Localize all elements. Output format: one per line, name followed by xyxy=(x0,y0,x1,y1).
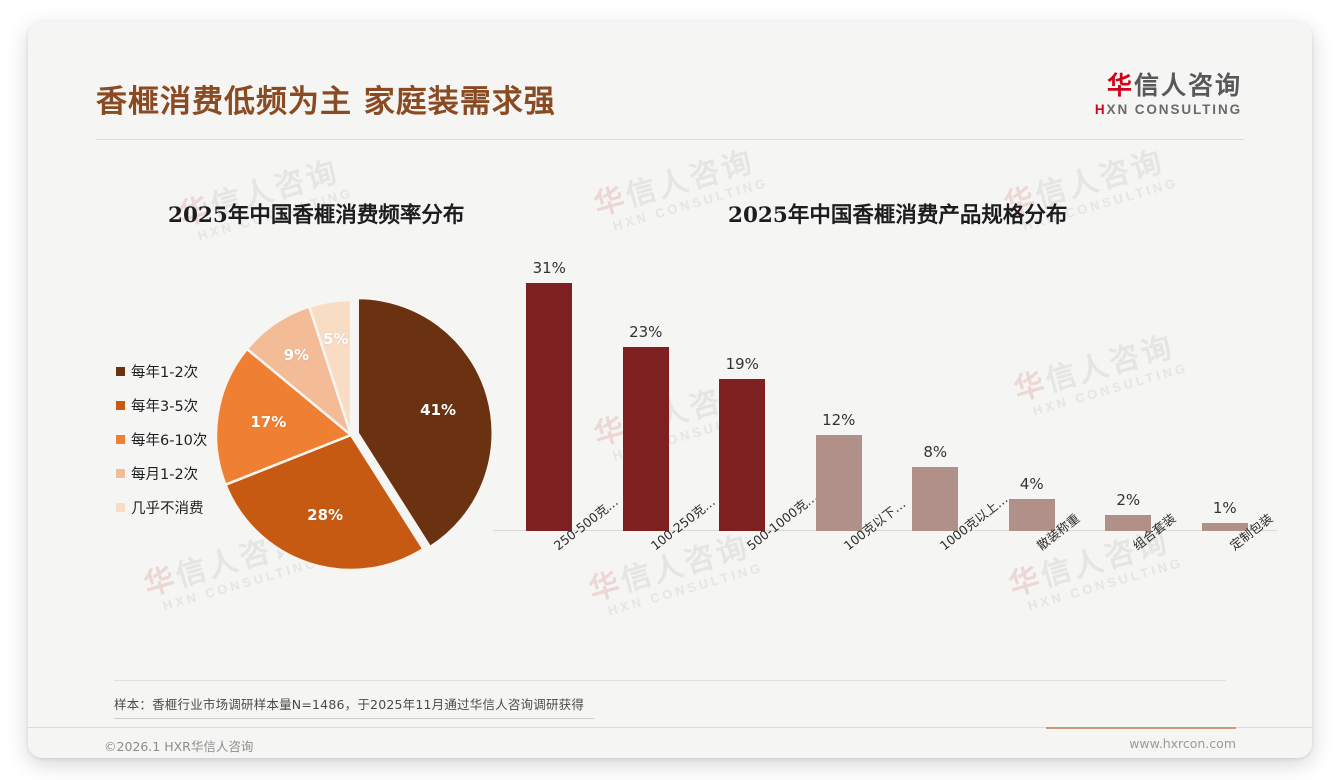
bar-chart: 31%250-500克…23%100-250克…19%500-1000克…12%… xyxy=(483,257,1283,657)
legend-item-label: 每月1-2次 xyxy=(131,463,198,484)
bar-value-label: 23% xyxy=(629,323,662,341)
watermark: 华信人咨询 HXN CONSULTING xyxy=(173,144,355,246)
bar-value-label: 2% xyxy=(1116,491,1140,509)
legend-item[interactable]: 每年3-5次 xyxy=(116,388,207,422)
bar-column[interactable]: 19% xyxy=(719,379,765,531)
bar-rect[interactable] xyxy=(816,435,862,531)
bar-column[interactable]: 12% xyxy=(816,435,862,531)
logo-en-rest: XN CONSULTING xyxy=(1107,102,1242,117)
bar-value-label: 19% xyxy=(726,355,759,373)
logo-en-red: H xyxy=(1095,102,1107,117)
legend-item[interactable]: 每年1-2次 xyxy=(116,354,207,388)
logo-cn-red: 华 xyxy=(1107,71,1134,100)
footer-accent-line xyxy=(1046,727,1236,729)
legend-item[interactable]: 每年6-10次 xyxy=(116,422,207,456)
logo-english: HXN CONSULTING xyxy=(1095,102,1242,117)
legend-swatch-icon xyxy=(116,435,125,444)
footer-website[interactable]: www.hxrcon.com xyxy=(1129,736,1236,751)
bar-rect[interactable] xyxy=(719,379,765,531)
legend-swatch-icon xyxy=(116,367,125,376)
page-title: 香榧消费低频为主 家庭装需求强 xyxy=(96,76,556,121)
logo-chinese: 华信人咨询 xyxy=(1095,72,1242,100)
pie-svg xyxy=(206,290,496,580)
bar-value-label: 8% xyxy=(923,443,947,461)
bar-column[interactable]: 31% xyxy=(526,283,572,531)
bar-rect[interactable] xyxy=(623,347,669,531)
watermark-cn-red: 华 xyxy=(590,181,631,224)
bar-value-label: 12% xyxy=(822,411,855,429)
legend-swatch-icon xyxy=(116,469,125,478)
footnote-text: 样本：香榧行业市场调研样本量N=1486，于2025年11月通过华信人咨询调研获… xyxy=(114,694,584,713)
slide-header: 香榧消费低频为主 家庭装需求强 华信人咨询 HXN CONSULTING xyxy=(28,22,1312,132)
bar-value-label: 1% xyxy=(1213,499,1237,517)
bar-column[interactable]: 23% xyxy=(623,347,669,531)
footnote-underline xyxy=(114,718,594,719)
slide: 华信人咨询 HXN CONSULTING 华信人咨询 HXN CONSULTIN… xyxy=(28,22,1312,758)
bar-value-label: 31% xyxy=(533,259,566,277)
footer-copyright: ©2026.1 HXR华信人咨询 xyxy=(104,736,253,755)
pie-chart: 41%28%17%9%5% xyxy=(206,290,496,580)
footnote-divider xyxy=(114,680,1226,681)
bar-rect[interactable] xyxy=(912,467,958,531)
legend-item-label: 几乎不消费 xyxy=(131,497,204,518)
brand-logo: 华信人咨询 HXN CONSULTING xyxy=(1095,72,1242,117)
header-divider xyxy=(96,139,1244,140)
legend-item-label: 每年1-2次 xyxy=(131,361,198,382)
legend-item[interactable]: 每月1-2次 xyxy=(116,456,207,490)
legend-item-label: 每年3-5次 xyxy=(131,395,198,416)
legend-item-label: 每年6-10次 xyxy=(131,429,207,450)
right-chart-title: 2025年中国香榧消费产品规格分布 xyxy=(728,198,1067,229)
bar-column[interactable]: 8% xyxy=(912,467,958,531)
bar-rect[interactable] xyxy=(526,283,572,531)
logo-cn-rest: 信人咨询 xyxy=(1134,71,1242,100)
left-chart-title: 2025年中国香榧消费频率分布 xyxy=(168,198,464,229)
legend-swatch-icon xyxy=(116,401,125,410)
legend-item[interactable]: 几乎不消费 xyxy=(116,490,207,524)
bar-value-label: 4% xyxy=(1020,475,1044,493)
screenshot-root: 华信人咨询 HXN CONSULTING 华信人咨询 HXN CONSULTIN… xyxy=(0,0,1340,780)
pie-chart-panel: 每年1-2次每年3-5次每年6-10次每月1-2次几乎不消费 41%28%17%… xyxy=(88,262,518,602)
pie-legend: 每年1-2次每年3-5次每年6-10次每月1-2次几乎不消费 xyxy=(116,354,207,524)
legend-swatch-icon xyxy=(116,503,125,512)
